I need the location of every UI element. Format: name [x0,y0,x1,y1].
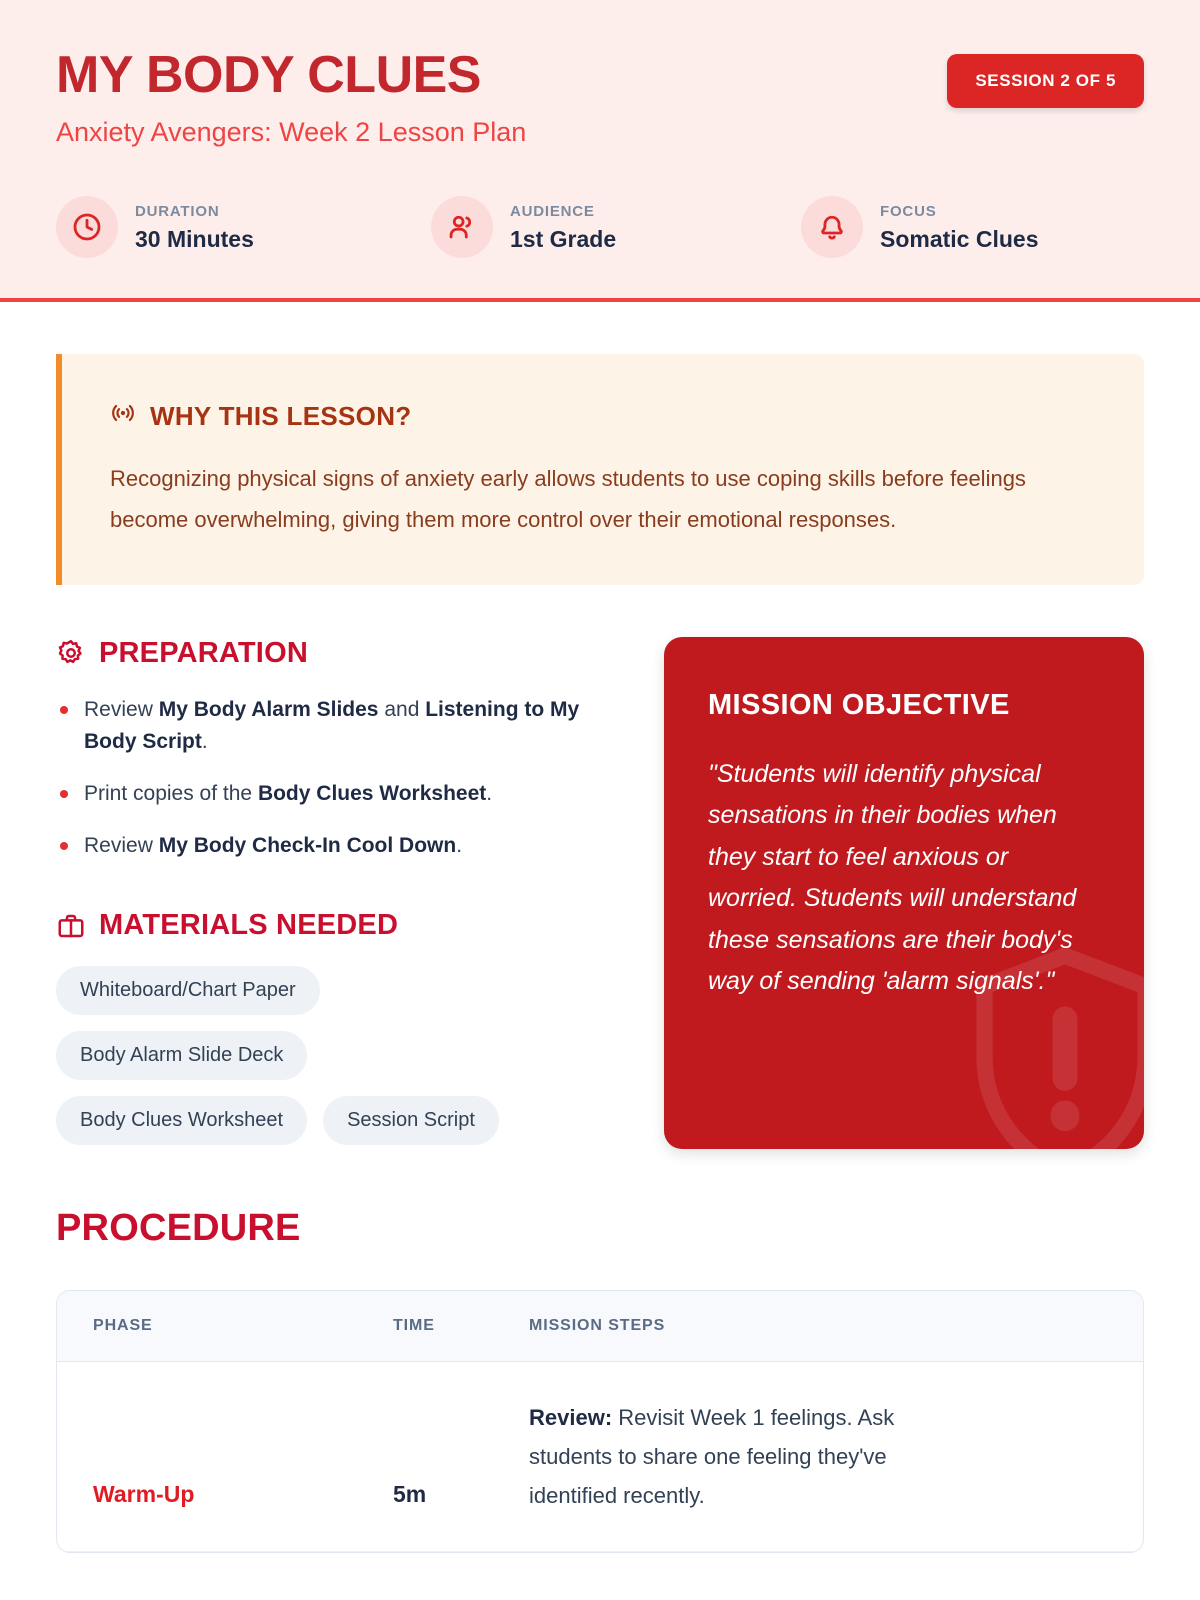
list-item: Review My Body Check-In Cool Down. [56,830,608,862]
meta-item-audience: AUDIENCE 1st Grade [431,196,801,258]
clock-icon [56,196,118,258]
meta-text-focus: FOCUS Somatic Clues [880,204,1039,251]
column-header-phase: PHASE [57,1291,393,1362]
title-block: MY BODY CLUES Anxiety Avengers: Week 2 L… [56,48,526,148]
meta-text-audience: AUDIENCE 1st Grade [510,204,616,251]
materials-chip-list: Whiteboard/Chart Paper Body Alarm Slide … [56,966,556,1145]
material-chip[interactable]: Body Alarm Slide Deck [56,1031,307,1080]
briefcase-icon [56,911,86,941]
broadcast-icon [110,400,136,433]
preparation-title-row: PREPARATION [56,637,608,670]
session-badge[interactable]: SESSION 2 OF 5 [947,54,1144,108]
bell-icon [801,196,863,258]
materials-title: MATERIALS NEEDED [99,909,398,942]
meta-value: Somatic Clues [880,228,1039,251]
material-chip[interactable]: Session Script [323,1096,499,1145]
column-header-time: TIME [393,1291,529,1362]
material-chip[interactable]: Body Clues Worksheet [56,1096,307,1145]
list-item: Review My Body Alarm Slides and Listenin… [56,694,608,758]
content-columns: PREPARATION Review My Body Alarm Slides … [56,637,1144,1149]
callout-title: WHY THIS LESSON? [150,401,411,432]
page-subtitle: Anxiety Avengers: Week 2 Lesson Plan [56,116,526,148]
preparation-title: PREPARATION [99,637,308,670]
table-body: Warm-Up 5m Review: Revisit Week 1 feelin… [57,1361,1143,1551]
meta-value: 30 Minutes [135,228,254,251]
procedure-table-card: PHASE TIME MISSION STEPS Warm-Up 5m Revi… [56,1290,1144,1553]
mission-objective-text: "Students will identify physical sensati… [708,754,1100,1003]
prep-text-1: Print copies of the Body Clues Worksheet… [84,782,492,805]
meta-label: AUDIENCE [510,204,616,219]
cell-time: 5m [393,1361,529,1551]
table-header-row: PHASE TIME MISSION STEPS [57,1291,1143,1362]
users-icon [431,196,493,258]
preparation-list: Review My Body Alarm Slides and Listenin… [56,694,608,862]
right-column: MISSION OBJECTIVE "Students will identif… [664,637,1144,1149]
callout-title-row: WHY THIS LESSON? [110,400,1096,433]
steps-text-0: Review: Revisit Week 1 feelings. Ask stu… [529,1405,894,1508]
mission-objective-title: MISSION OBJECTIVE [708,689,1100,722]
meta-text-duration: DURATION 30 Minutes [135,204,254,251]
meta-label: DURATION [135,204,254,219]
meta-row: DURATION 30 Minutes AUDIENCE 1st Grade [56,196,1144,258]
why-this-lesson-callout: WHY THIS LESSON? Recognizing physical si… [56,354,1144,584]
procedure-table: PHASE TIME MISSION STEPS Warm-Up 5m Revi… [57,1291,1143,1552]
mission-objective-card: MISSION OBJECTIVE "Students will identif… [664,637,1144,1149]
cell-mission-steps: Review: Revisit Week 1 feelings. Ask stu… [529,1361,1143,1551]
left-column: PREPARATION Review My Body Alarm Slides … [56,637,608,1149]
table-row: Warm-Up 5m Review: Revisit Week 1 feelin… [57,1361,1143,1551]
procedure-title: PROCEDURE [56,1207,1144,1250]
table-head: PHASE TIME MISSION STEPS [57,1291,1143,1362]
meta-item-duration: DURATION 30 Minutes [56,196,431,258]
material-chip[interactable]: Whiteboard/Chart Paper [56,966,320,1015]
cell-phase: Warm-Up [57,1361,393,1551]
gear-icon [56,638,86,668]
page-header: MY BODY CLUES Anxiety Avengers: Week 2 L… [0,0,1200,302]
prep-text-2: Review My Body Check-In Cool Down. [84,834,462,857]
page-title: MY BODY CLUES [56,48,526,102]
prep-text-0: Review My Body Alarm Slides and Listenin… [84,698,579,753]
meta-value: 1st Grade [510,228,616,251]
meta-label: FOCUS [880,204,1039,219]
callout-body: Recognizing physical signs of anxiety ea… [110,459,1096,540]
meta-item-focus: FOCUS Somatic Clues [801,196,1039,258]
page-body: WHY THIS LESSON? Recognizing physical si… [0,302,1200,1553]
materials-title-row: MATERIALS NEEDED [56,909,608,942]
list-item: Print copies of the Body Clues Worksheet… [56,778,608,810]
header-top-row: MY BODY CLUES Anxiety Avengers: Week 2 L… [56,48,1144,148]
column-header-mission-steps: MISSION STEPS [529,1291,1143,1362]
